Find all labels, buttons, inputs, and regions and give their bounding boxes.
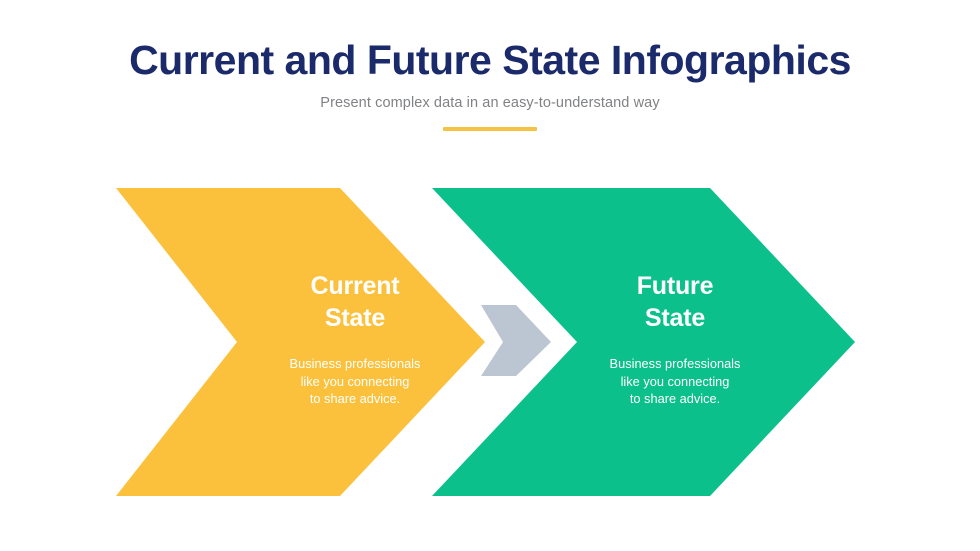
future-state-body: Business professionals like you connecti… <box>555 355 795 408</box>
chevron-shapes <box>0 180 980 510</box>
page-subtitle: Present complex data in an easy-to-under… <box>0 95 980 112</box>
slide-canvas: Current and Future State Infographics Pr… <box>0 0 980 551</box>
future-state-heading: Future State <box>555 270 795 334</box>
page-title: Current and Future State Infographics <box>0 40 980 81</box>
title-divider <box>443 127 537 131</box>
future-state-text-block: Future State Business professionals like… <box>555 270 795 408</box>
chevron-flow-diagram: Current State Business professionals lik… <box>0 180 980 510</box>
current-state-body: Business professionals like you connecti… <box>235 355 475 408</box>
slide-header: Current and Future State Infographics Pr… <box>0 40 980 131</box>
connector-chevron-right-icon <box>481 305 551 376</box>
current-state-heading: Current State <box>235 270 475 334</box>
current-state-text-block: Current State Business professionals lik… <box>235 270 475 408</box>
